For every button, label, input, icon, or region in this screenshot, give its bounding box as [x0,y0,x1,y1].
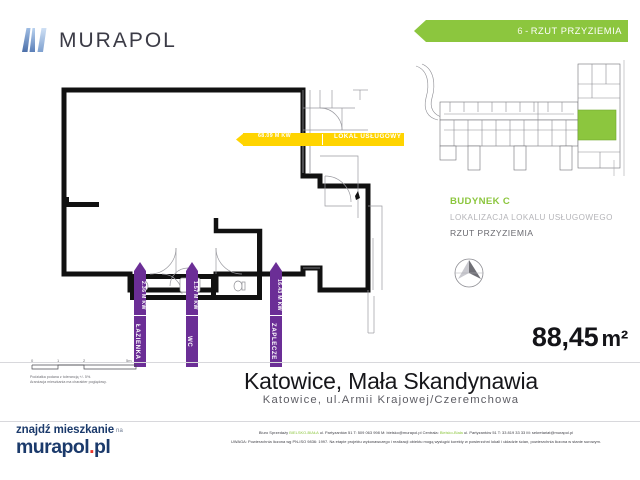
project-title: Katowice, Mała Skandynawia [0,368,632,395]
room-tag-arrow-wc [186,262,198,271]
section-banner: 6-RZUT PRZYZIEMIA [414,20,628,42]
footer-office-city: BIELSKO-BIAŁA [289,430,318,435]
site-location-plan [414,60,628,176]
divider-top [0,362,640,363]
murapol-m-icon [22,28,50,52]
room-name-lokal: LOKAL USŁUGOWY [334,133,401,140]
banner-number: 6 [517,26,523,36]
footer-office-details: ul. Partyzantów 51 T: 509 063 998 M: bie… [319,430,440,435]
room-name-bar-zaplecze: ZAPLECZE [270,316,282,367]
banner-text: 6-RZUT PRZYZIEMIA [517,20,622,42]
footer-contact-line: Biuro Sprzedaży BIELSKO-BIAŁA ul. Partyz… [200,430,632,436]
murapol-logo: MURAPOL [22,28,177,52]
room-tag-wc: 1.57 M KW WC [186,262,198,367]
site-plan-drawing [414,60,628,176]
footer-sales-label: Biuro Sprzedaży [259,430,289,435]
room-area-lazienka: 2.36 M KW [134,273,146,317]
room-tag-arrow-zaplecze [270,262,282,271]
banner-label: RZUT PRZYZIEMIA [531,26,622,36]
floorplan-sheet: MURAPOL [0,0,640,480]
murapol-pl-brand[interactable]: znajdź mieszkaniena murapol.pl [16,424,196,457]
room-area-bar-lazienka: 2.36 M KW [134,271,146,315]
room-area-zaplecze: 16.43 M KW [270,273,282,317]
banner-dash: - [525,26,529,36]
room-tag-separator [322,134,323,145]
right-panel: 6-RZUT PRZYZIEMIA [414,20,628,297]
room-tag-arrow-lazienka [134,262,146,271]
room-name-zaplecze: ZAPLECZE [270,316,282,367]
room-area-wc: 1.57 M KW [186,273,198,317]
divider-bottom [0,421,640,422]
footer-hq-city: Bielsko-Biała [440,430,463,435]
room-area-bar-zaplecze: 16.43 M KW [270,271,282,315]
brand-tagline-na: na [116,428,123,434]
building-info: BUDYNEK C LOKALIZACJA LOKALU USŁUGOWEGO … [414,196,628,238]
main-floorplan [20,78,400,388]
building-floor-label: RZUT PRZYZIEMIA [450,228,628,238]
unit-area-value: 88,45m² [532,322,628,353]
room-area-bar-wc: 1.57 M KW [186,271,198,315]
brand-domain-name: murapol [16,436,89,458]
project-address: Katowice, ul.Armii Krajowej/Czeremchowa [0,394,632,406]
unit-area-unit: m² [602,326,629,351]
brand-domain: murapol.pl [16,437,196,457]
footer-hq-details: ul. Partyzantów 51 T: 33 819 33 33 M: se… [463,430,573,435]
building-name: BUDYNEK C [450,196,628,207]
murapol-wordmark: MURAPOL [59,30,177,51]
room-tag-lokal-uslugowy: 68.09 M KW LOKAL USŁUGOWY [236,133,404,146]
room-tag-lazienka: 2.36 M KW ŁAZIENKA [134,262,146,367]
compass-north-icon [450,254,488,292]
building-subtitle: LOKALIZACJA LOKALU USŁUGOWEGO [450,213,628,222]
footer: Biuro Sprzedaży BIELSKO-BIAŁA ul. Partyz… [200,430,632,445]
room-area-lokal: 68.09 M KW [258,133,291,139]
unit-area-number: 88,45 [532,322,599,352]
brand-domain-tld: pl [94,436,110,458]
brand-tagline-text: znajdź mieszkanie [16,424,114,436]
floorplan-drawing [20,78,400,388]
footer-disclaimer: UWAGA: Powierzchnia liczona wg PN-ISO 98… [200,439,632,445]
brand-tagline: znajdź mieszkaniena [16,424,196,436]
room-tag-zaplecze: 16.43 M KW ZAPLECZE [270,262,282,367]
highlighted-unit [578,110,616,140]
